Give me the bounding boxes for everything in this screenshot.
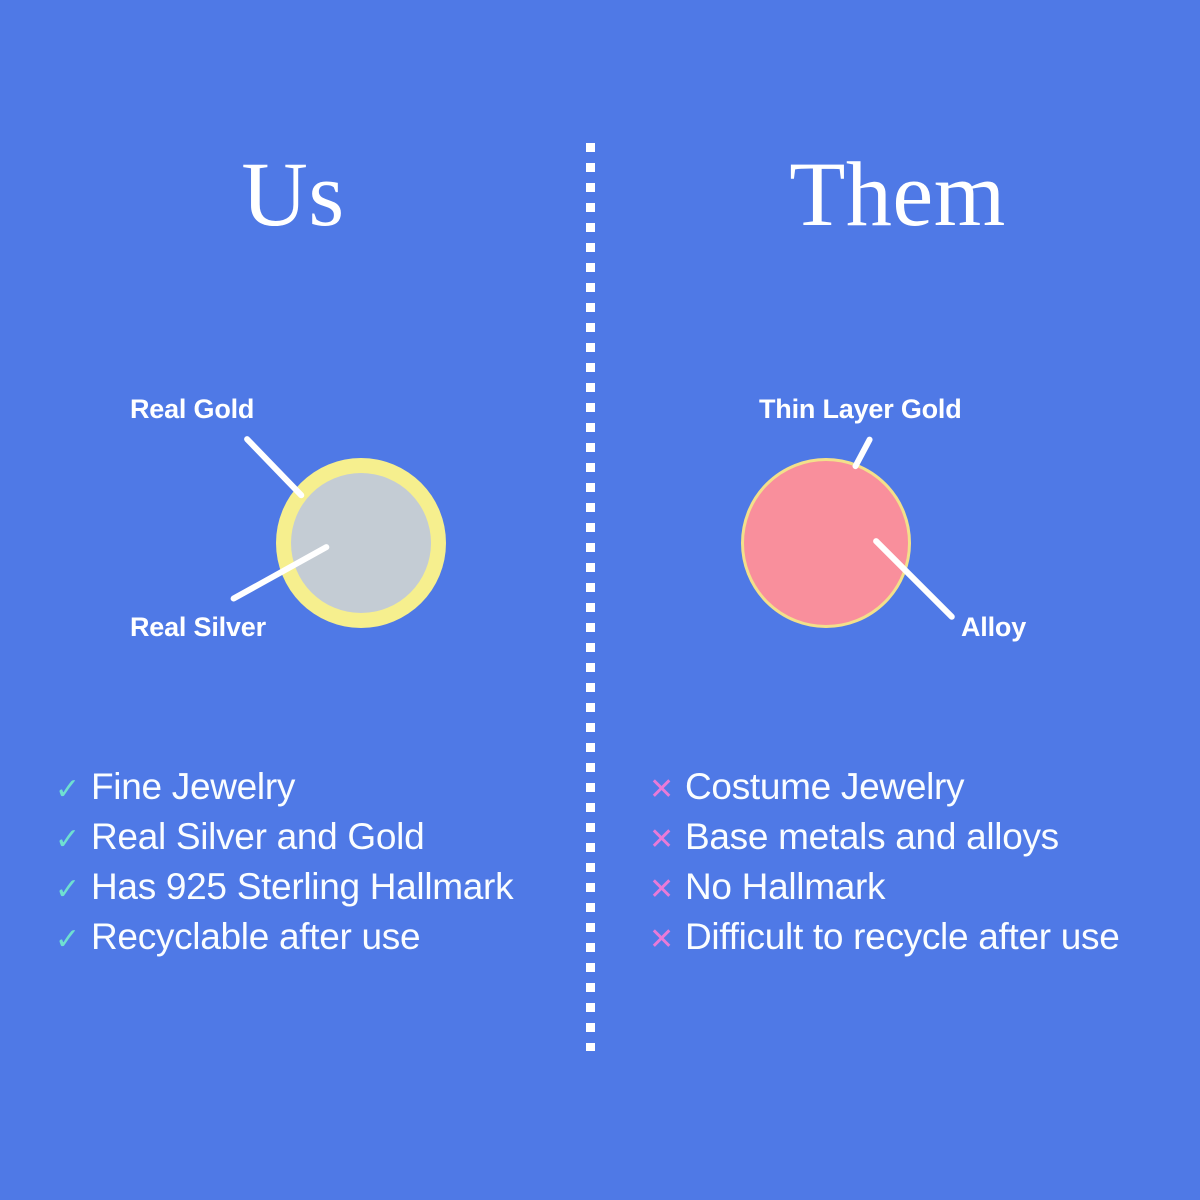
diagram-label-real-gold: Real Gold bbox=[130, 396, 254, 423]
check-icon: ✓ bbox=[55, 775, 91, 805]
cross-icon: ✕ bbox=[649, 775, 685, 805]
list-item: ✓ Fine Jewelry bbox=[55, 768, 513, 818]
check-icon: ✓ bbox=[55, 875, 91, 905]
list-item: ✓ Recyclable after use bbox=[55, 918, 513, 968]
comparison-infographic: Us Real Gold Real Silver ✓ Fine Jewelry … bbox=[0, 0, 1200, 1200]
diagram-them: Thin Layer Gold Alloy bbox=[595, 380, 1200, 670]
diagram-label-real-silver: Real Silver bbox=[130, 614, 266, 641]
list-item-label: No Hallmark bbox=[685, 868, 885, 905]
cross-icon: ✕ bbox=[649, 925, 685, 955]
check-icon: ✓ bbox=[55, 925, 91, 955]
cross-icon: ✕ bbox=[649, 875, 685, 905]
feature-list-them: ✕ Costume Jewelry ✕ Base metals and allo… bbox=[649, 768, 1120, 968]
diagram-label-thin-layer-gold: Thin Layer Gold bbox=[759, 396, 962, 423]
cross-icon: ✕ bbox=[649, 825, 685, 855]
list-item: ✓ Has 925 Sterling Hallmark bbox=[55, 868, 513, 918]
list-item-label: Recyclable after use bbox=[91, 918, 420, 955]
list-item: ✕ Base metals and alloys bbox=[649, 818, 1120, 868]
leader-line-thin-layer-gold bbox=[851, 436, 873, 471]
list-item: ✓ Real Silver and Gold bbox=[55, 818, 513, 868]
list-item-label: Fine Jewelry bbox=[91, 768, 295, 805]
list-item-label: Has 925 Sterling Hallmark bbox=[91, 868, 513, 905]
column-divider bbox=[586, 143, 595, 1051]
list-item: ✕ No Hallmark bbox=[649, 868, 1120, 918]
column-heading-us: Us bbox=[0, 148, 586, 240]
leader-line-real-gold bbox=[243, 435, 306, 500]
gold-ring-shape bbox=[276, 458, 446, 628]
list-item-label: Base metals and alloys bbox=[685, 818, 1059, 855]
list-item-label: Costume Jewelry bbox=[685, 768, 964, 805]
column-heading-them: Them bbox=[595, 148, 1200, 240]
list-item: ✕ Difficult to recycle after use bbox=[649, 918, 1120, 968]
plated-alloy-shape bbox=[741, 458, 911, 628]
list-item-label: Difficult to recycle after use bbox=[685, 918, 1120, 955]
diagram-us: Real Gold Real Silver bbox=[0, 380, 586, 670]
list-item-label: Real Silver and Gold bbox=[91, 818, 424, 855]
silver-core-shape bbox=[291, 473, 431, 613]
list-item: ✕ Costume Jewelry bbox=[649, 768, 1120, 818]
check-icon: ✓ bbox=[55, 825, 91, 855]
feature-list-us: ✓ Fine Jewelry ✓ Real Silver and Gold ✓ … bbox=[55, 768, 513, 968]
diagram-label-alloy: Alloy bbox=[961, 614, 1026, 641]
